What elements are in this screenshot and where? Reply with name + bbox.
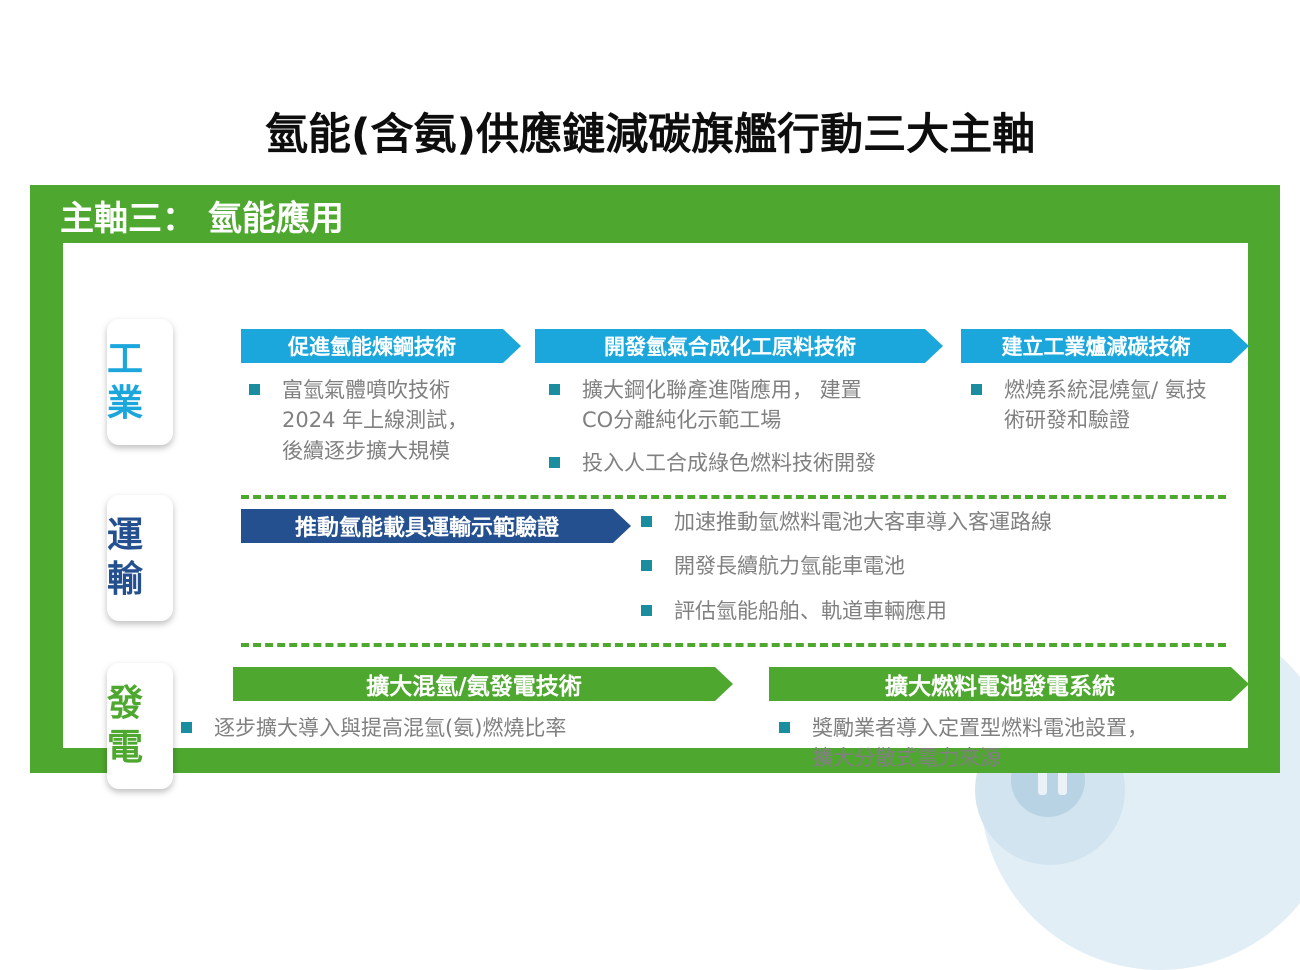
list-item: 加速推動氫燃料電池大客車導入客運路線 <box>641 507 1241 537</box>
list-item: 燃燒系統混燒氫/ 氨技 術研發和驗證 <box>971 375 1256 436</box>
list-item: 評估氫能船舶、軌道車輛應用 <box>641 596 1241 626</box>
bullet-list-transport: 加速推動氫燃料電池大客車導入客運路線 開發長續航力氫能車電池 評估氫能船舶、軌道… <box>641 507 1241 640</box>
list-item-text: 加速推動氫燃料電池大客車導入客運路線 <box>674 507 1052 537</box>
bullet-list-furnace: 燃燒系統混燒氫/ 氨技 術研發和驗證 <box>971 375 1256 448</box>
bullet-square-icon <box>549 384 560 395</box>
axis-panel: 主軸三： 氫能應用 工業 運輸 發電 促進氫能煉鋼技術 開發氫氣合成化工原料技術… <box>30 185 1280 773</box>
bullet-list-chemical: 擴大鋼化聯產進階應用， 建置 CO分離純化示範工場 投入人工合成綠色燃料技術開發 <box>549 375 949 490</box>
banner-hydrogen-vehicle-demonstration[interactable]: 推動氫能載具運輸示範驗證 <box>241 509 631 543</box>
row-transport: 推動氫能載具運輸示範驗證 加速推動氫燃料電池大客車導入客運路線 開發長續航力氫能… <box>63 505 1248 655</box>
category-label-transport: 運輸 <box>107 495 173 621</box>
list-item: 獎勵業者導入定置型燃料電池設置， 擴大分散式電力來源 <box>779 713 1249 774</box>
axis-body: 工業 運輸 發電 促進氫能煉鋼技術 開發氫氣合成化工原料技術 建立工業爐減碳技術… <box>63 243 1248 748</box>
list-item-text: 逐步擴大導入與提高混氫(氨)燃燒比率 <box>214 713 566 743</box>
list-item-text: 評估氫能船舶、軌道車輛應用 <box>674 596 947 626</box>
bullet-square-icon <box>779 722 790 733</box>
bullet-square-icon <box>641 516 652 527</box>
list-item: 擴大鋼化聯產進階應用， 建置 CO分離純化示範工場 <box>549 375 949 436</box>
bullet-list-cofire: 逐步擴大導入與提高混氫(氨)燃燒比率 <box>181 713 721 743</box>
list-item-text: 獎勵業者導入定置型燃料電池設置， 擴大分散式電力來源 <box>812 713 1148 774</box>
banner-cofire-label: 擴大混氫/氨發電技術 <box>366 667 581 701</box>
bullet-square-icon <box>181 722 192 733</box>
banner-promote-hydrogen-steelmaking[interactable]: 促進氫能煉鋼技術 <box>241 329 521 363</box>
list-item: 投入人工合成綠色燃料技術開發 <box>549 448 949 478</box>
axis-header-label: 主軸三： 氫能應用 <box>30 185 1280 243</box>
bullet-list-fuelcell: 獎勵業者導入定置型燃料電池設置， 擴大分散式電力來源 <box>779 713 1249 786</box>
row-divider-transport-power <box>241 643 1226 647</box>
page-title: 氫能(含氨)供應鏈減碳旗艦行動三大主軸 <box>0 100 1300 162</box>
banner-develop-hydrogen-chemical-feedstock[interactable]: 開發氫氣合成化工原料技術 <box>535 329 943 363</box>
banner-chemical-label: 開發氫氣合成化工原料技術 <box>604 331 856 361</box>
bullet-square-icon <box>249 384 260 395</box>
banner-expand-hydrogen-ammonia-cofiring[interactable]: 擴大混氫/氨發電技術 <box>233 667 733 701</box>
banner-expand-fuel-cell-power-system[interactable]: 擴大燃料電池發電系統 <box>769 667 1249 701</box>
list-item: 富氫氣體噴吹技術 2024 年上線測試， 後續逐步擴大規模 <box>249 375 539 466</box>
row-power: 擴大混氫/氨發電技術 擴大燃料電池發電系統 逐步擴大導入與提高混氫(氨)燃燒比率… <box>63 655 1248 805</box>
category-label-industry: 工業 <box>107 319 173 445</box>
bullet-square-icon <box>549 457 560 468</box>
category-label-industry-text: 工業 <box>107 338 173 426</box>
list-item: 逐步擴大導入與提高混氫(氨)燃燒比率 <box>181 713 721 743</box>
category-label-transport-text: 運輸 <box>107 514 173 602</box>
banner-steel-label: 促進氫能煉鋼技術 <box>288 331 456 361</box>
category-label-power: 發電 <box>107 663 173 789</box>
banner-industrial-furnace-decarbonization[interactable]: 建立工業爐減碳技術 <box>961 329 1249 363</box>
list-item-text: 燃燒系統混燒氫/ 氨技 術研發和驗證 <box>1004 375 1207 436</box>
list-item-text: 開發長續航力氫能車電池 <box>674 551 905 581</box>
list-item-text: 擴大鋼化聯產進階應用， 建置 CO分離純化示範工場 <box>582 375 862 436</box>
banner-transport-label: 推動氫能載具運輸示範驗證 <box>295 510 559 542</box>
category-label-power-text: 發電 <box>107 682 173 770</box>
bullet-square-icon <box>971 384 982 395</box>
row-divider-industry-transport <box>241 495 1226 499</box>
bullet-square-icon <box>641 560 652 571</box>
banner-furnace-label: 建立工業爐減碳技術 <box>1002 331 1191 361</box>
row-industry: 促進氫能煉鋼技術 開發氫氣合成化工原料技術 建立工業爐減碳技術 富氫氣體噴吹技術… <box>63 313 1248 503</box>
list-item-text: 富氫氣體噴吹技術 2024 年上線測試， 後續逐步擴大規模 <box>282 375 468 466</box>
bullet-list-steel: 富氫氣體噴吹技術 2024 年上線測試， 後續逐步擴大規模 <box>249 375 539 478</box>
banner-fuelcell-label: 擴大燃料電池發電系統 <box>885 667 1115 701</box>
list-item: 開發長續航力氫能車電池 <box>641 551 1241 581</box>
list-item-text: 投入人工合成綠色燃料技術開發 <box>582 448 876 478</box>
bullet-square-icon <box>641 605 652 616</box>
